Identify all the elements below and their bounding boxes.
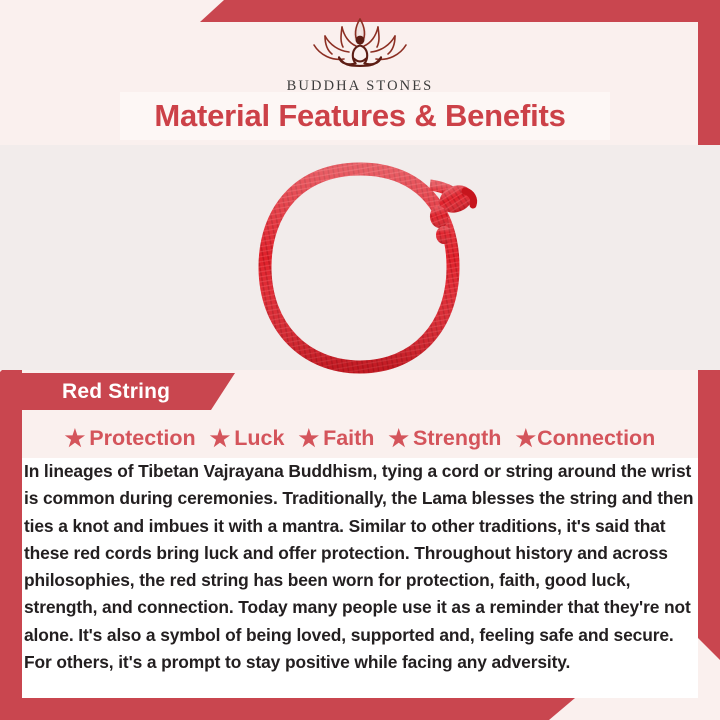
benefit-item-luck: ★ Luck (210, 426, 285, 451)
star-icon: ★ (388, 427, 409, 450)
benefit-label: Connection (537, 426, 655, 451)
brand-logo: BUDDHA STONES (0, 14, 720, 95)
description-text: In lineages of Tibetan Vajrayana Buddhis… (24, 458, 696, 676)
star-icon: ★ (65, 427, 86, 450)
benefit-label: Protection (89, 426, 195, 451)
benefit-item-faith: ★ Faith (298, 426, 374, 451)
red-braided-cord-bracelet-icon (225, 155, 495, 380)
product-image (0, 152, 720, 382)
benefit-label: Strength (413, 426, 501, 451)
benefit-label: Faith (323, 426, 374, 451)
benefit-item-protection: ★ Protection (65, 426, 196, 451)
infographic-card: BUDDHA STONES Material Features & Benefi… (0, 0, 720, 720)
star-icon: ★ (515, 427, 536, 450)
product-name-label: Red String (62, 373, 170, 410)
page-title: Material Features & Benefits (0, 93, 720, 139)
benefit-item-connection: ★ Connection (515, 426, 655, 451)
star-icon: ★ (210, 427, 231, 450)
star-icon: ★ (298, 427, 319, 450)
benefit-label: Luck (234, 426, 284, 451)
frame-bar-bottom (0, 698, 575, 720)
lotus-meditation-icon (300, 14, 420, 76)
benefits-list: ★ Protection ★ Luck ★ Faith ★ Strength ★… (0, 420, 720, 456)
benefit-item-strength: ★ Strength (388, 426, 501, 451)
